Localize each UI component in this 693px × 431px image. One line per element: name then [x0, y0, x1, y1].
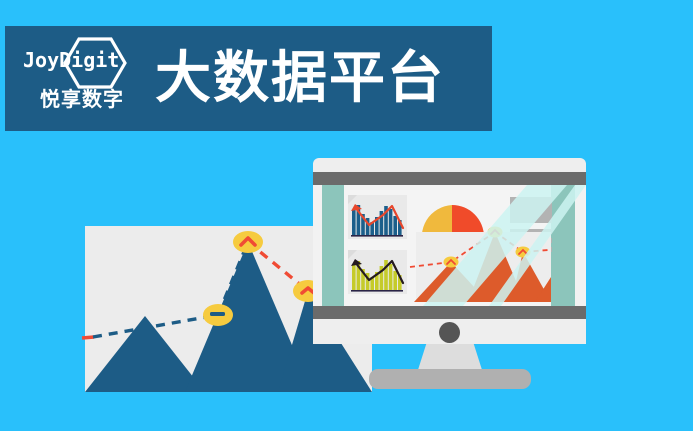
- accent-band-left: [322, 185, 344, 306]
- olive-bar-chart-card: [348, 250, 407, 294]
- monitor-screen-content: [313, 185, 586, 306]
- trend-line-red-stub: [82, 337, 94, 338]
- illustration-canvas: JoyDigit 悦享数字 大数据平台: [0, 0, 693, 431]
- trend-marker-1: [444, 257, 459, 268]
- monitor-stand-base: [369, 369, 531, 389]
- trend-marker-1: [203, 304, 233, 326]
- logo-subtitle: 悦享数字: [21, 87, 143, 111]
- blue-bar-chart-card: [348, 195, 407, 239]
- monitor-power-dot: [439, 322, 460, 343]
- page-title: 大数据平台: [155, 49, 445, 109]
- header-banner: JoyDigit 悦享数字 大数据平台: [5, 26, 492, 131]
- monitor-bottom-bar: [313, 306, 586, 319]
- monitor-top-bar: [313, 172, 586, 185]
- monitor-screen: [313, 185, 586, 306]
- desktop-monitor: [313, 158, 586, 389]
- logo-wordmark: JoyDigit: [23, 49, 143, 71]
- trend-marker-2: [233, 231, 263, 253]
- brand-logo: JoyDigit 悦享数字: [17, 29, 143, 129]
